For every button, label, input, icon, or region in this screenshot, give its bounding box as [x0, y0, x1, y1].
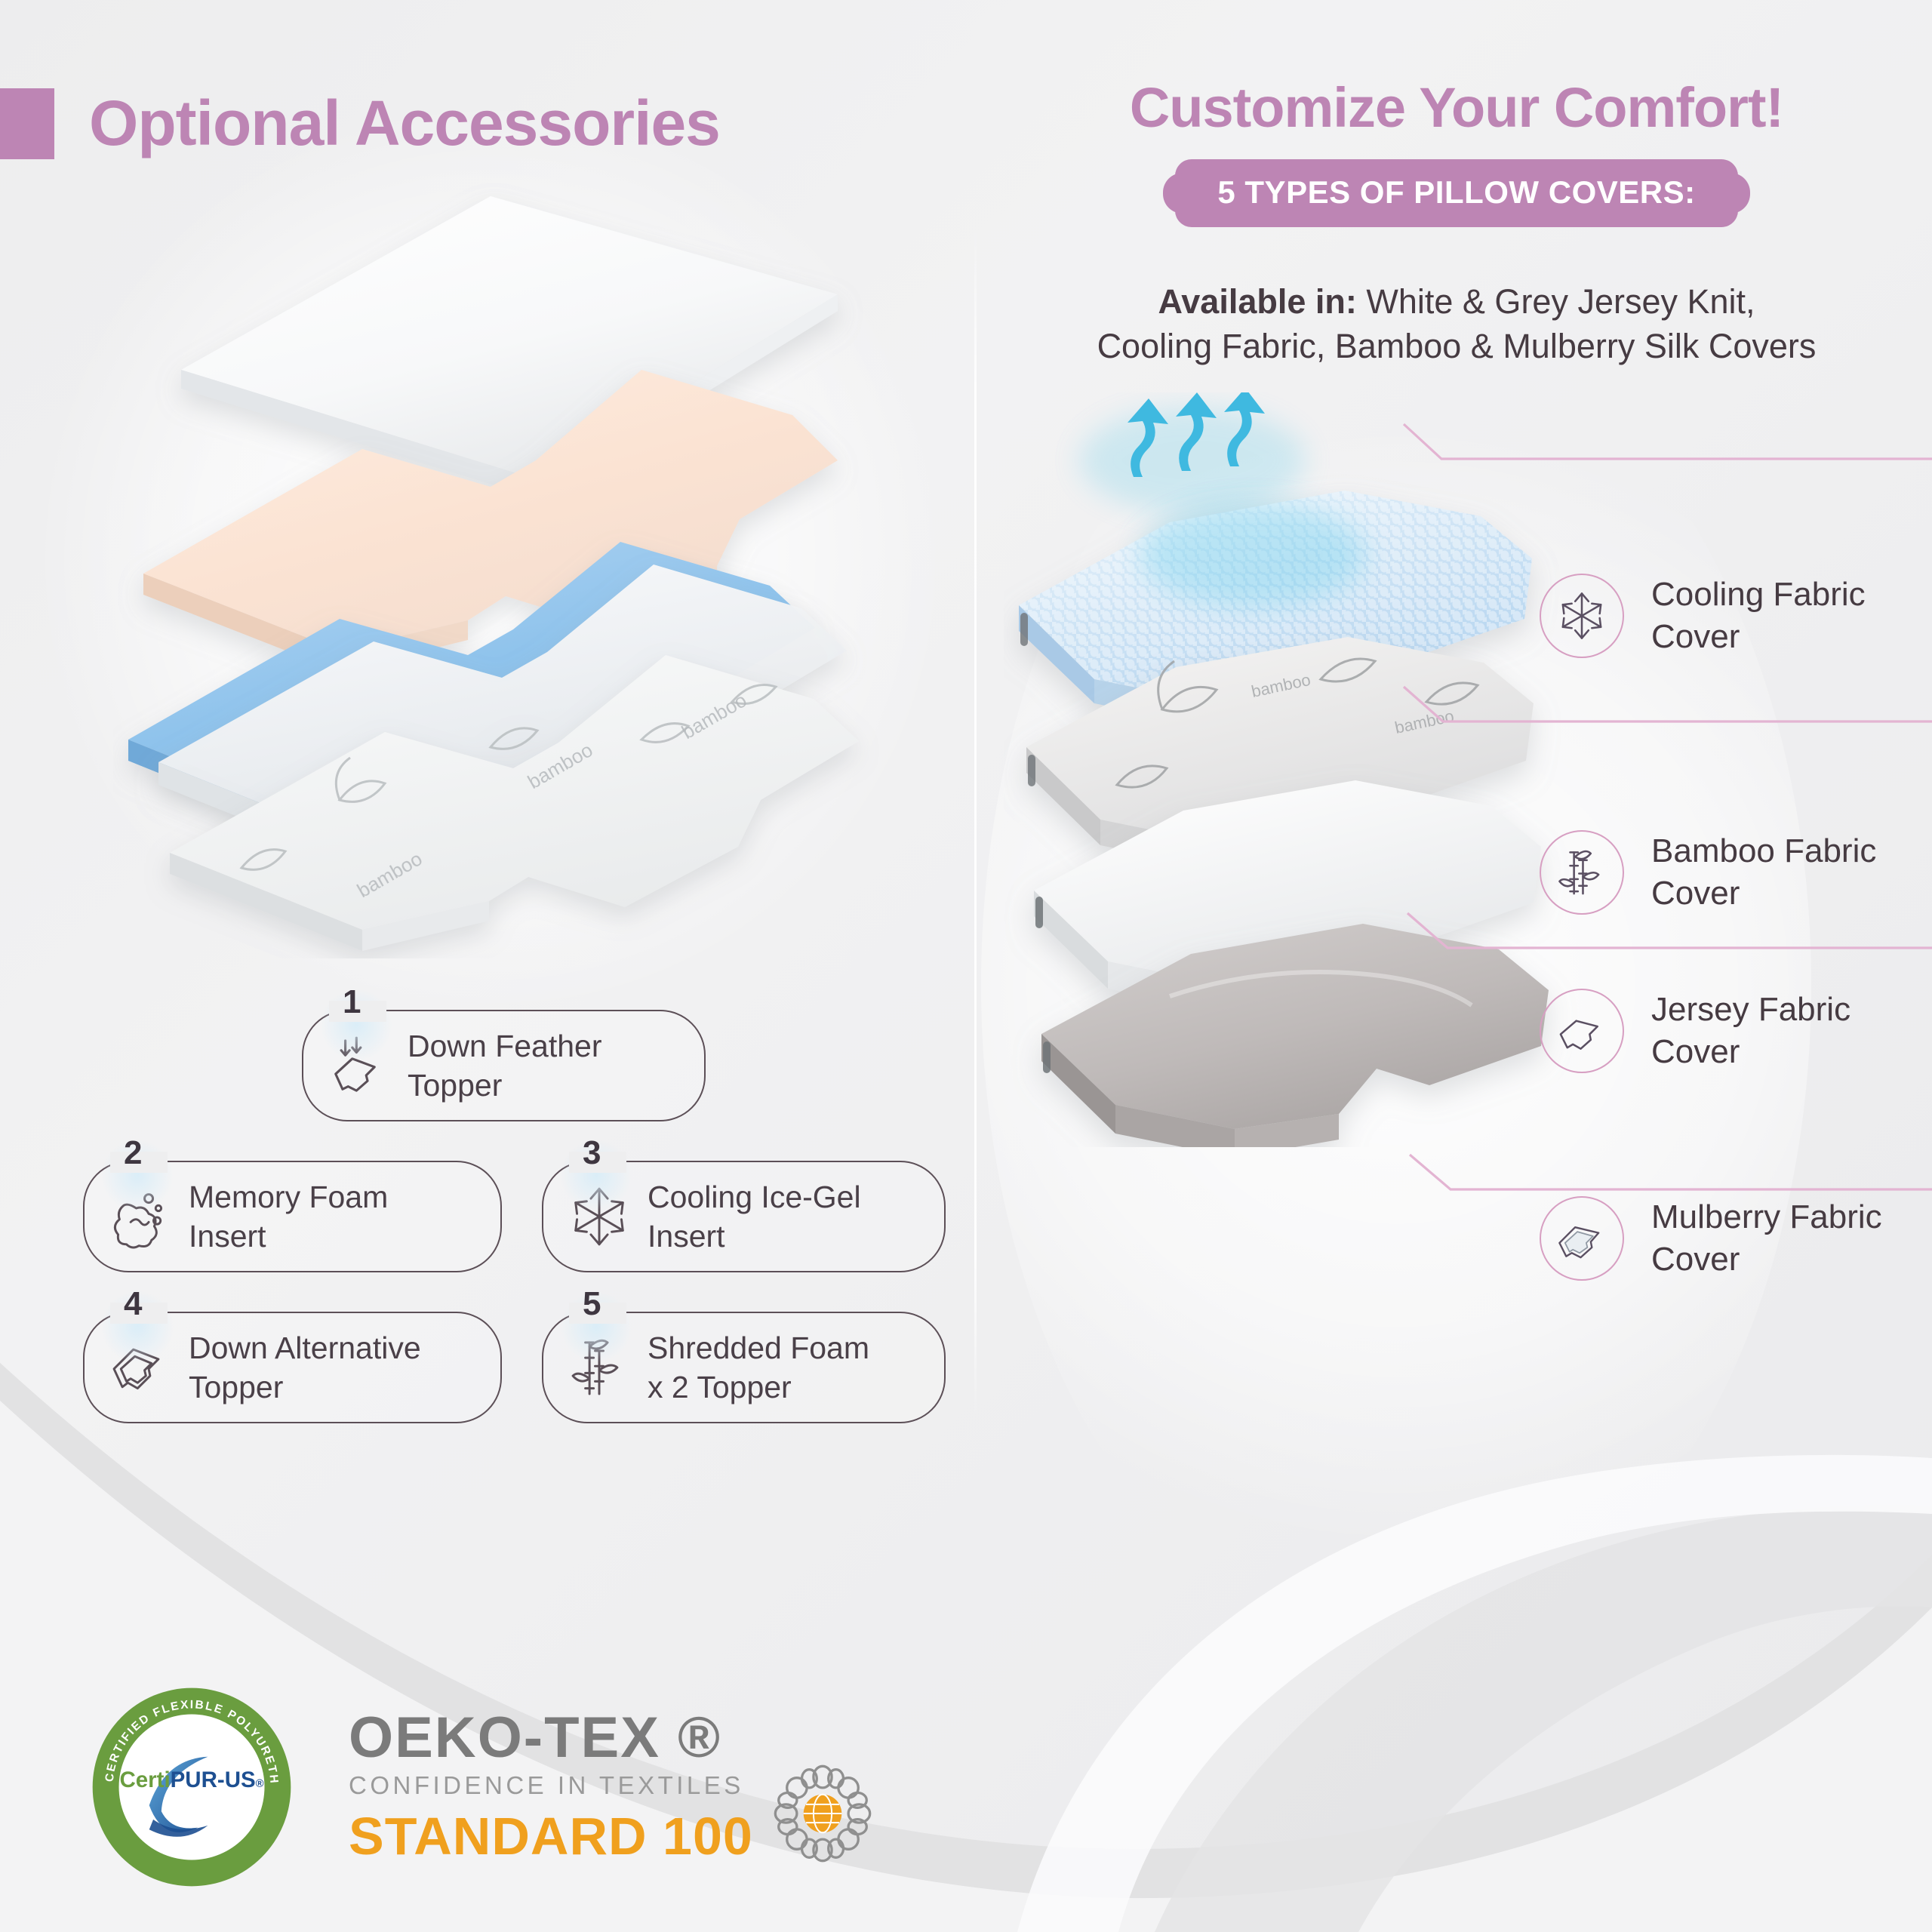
bamboo-icon: [1540, 830, 1624, 915]
cover-label-text: Jersey Fabric Cover: [1651, 989, 1850, 1074]
right-header: Customize Your Comfort! 5 TYPES OF PILLO…: [981, 75, 1932, 227]
accessory-pill-cooling-ice-gel-insert[interactable]: 3 Cooling Ice-Gel Insert: [542, 1161, 946, 1272]
pill-label: Down Feather Topper: [408, 1026, 602, 1106]
pillow-outline-icon: [1540, 989, 1624, 1073]
cover-label-text: Mulberry Fabric Cover: [1651, 1196, 1882, 1281]
oeko-tex-title: OEKO-TEX ®: [349, 1708, 753, 1769]
cover-label-bamboo-fabric: Bamboo Fabric Cover: [1540, 830, 1876, 915]
cover-label-jersey-fabric: Jersey Fabric Cover: [1540, 989, 1850, 1074]
certipur-us-badge: CONTAINS CERTIFIED FLEXIBLE POLYURETHANE…: [91, 1686, 293, 1888]
pill-label: Cooling Ice-Gel Insert: [648, 1177, 861, 1257]
oeko-tex-standard: STANDARD 100: [349, 1806, 753, 1866]
snowflake-icon: [1540, 574, 1624, 658]
certification-row: CONTAINS CERTIFIED FLEXIBLE POLYURETHANE…: [91, 1686, 872, 1888]
panel-divider: [974, 226, 977, 1419]
accessory-pill-down-alternative-topper[interactable]: 4 Down Alternative Topper: [83, 1312, 502, 1423]
pill-label: Memory Foam Insert: [189, 1177, 388, 1257]
pillow-covers-badge: 5 TYPES OF PILLOW COVERS:: [1175, 159, 1737, 227]
page-title-right: Customize Your Comfort!: [981, 75, 1932, 140]
pill-number: 3: [577, 1137, 607, 1170]
accessory-pill-down-feather-topper[interactable]: 1 Down Feather Topper: [302, 1010, 706, 1121]
pillow-silk-icon: [1540, 1196, 1624, 1281]
right-pillow-stack: bamboo bamboo: [1004, 392, 1607, 1147]
left-pillow-stack: bamboo bamboo bamboo: [113, 143, 943, 958]
oeko-tex-badge: OEKO-TEX ® CONFIDENCE IN TEXTILES STANDA…: [349, 1708, 872, 1867]
cover-label-text: Bamboo Fabric Cover: [1651, 830, 1876, 915]
pill-number: 1: [337, 986, 367, 1019]
accessory-pill-shredded-foam-topper[interactable]: 5 Shredded Foam x 2 Topper: [542, 1312, 946, 1423]
cover-label-text: Cooling Fabric Cover: [1651, 574, 1866, 659]
available-in-text: Available in: White & Grey Jersey Knit, …: [981, 279, 1932, 369]
cover-label-cooling-fabric: Cooling Fabric Cover: [1540, 574, 1866, 659]
infographic-page: Optional Accessories: [0, 0, 1932, 1932]
available-line-2: Cooling Fabric, Bamboo & Mulberry Silk C…: [1097, 327, 1817, 365]
accent-square: [0, 88, 54, 159]
cooling-airflow-arrows: [1079, 392, 1306, 513]
available-in-label: Available in:: [1158, 282, 1356, 321]
accessory-pill-memory-foam-insert[interactable]: 2 Memory Foam Insert: [83, 1161, 502, 1272]
pill-label: Down Alternative Topper: [189, 1328, 421, 1407]
pill-number: 5: [577, 1287, 607, 1321]
pill-number: 2: [118, 1137, 148, 1170]
oeko-tex-globe-icon: [773, 1764, 872, 1863]
pill-label: Shredded Foam x 2 Topper: [648, 1328, 869, 1407]
pill-number: 4: [118, 1287, 148, 1321]
cover-label-mulberry-fabric: Mulberry Fabric Cover: [1540, 1196, 1882, 1281]
certipur-brand-text: CertiPUR-US®: [120, 1767, 264, 1792]
available-line-1: White & Grey Jersey Knit,: [1366, 282, 1755, 321]
oeko-tex-subtitle: CONFIDENCE IN TEXTILES: [349, 1771, 753, 1800]
